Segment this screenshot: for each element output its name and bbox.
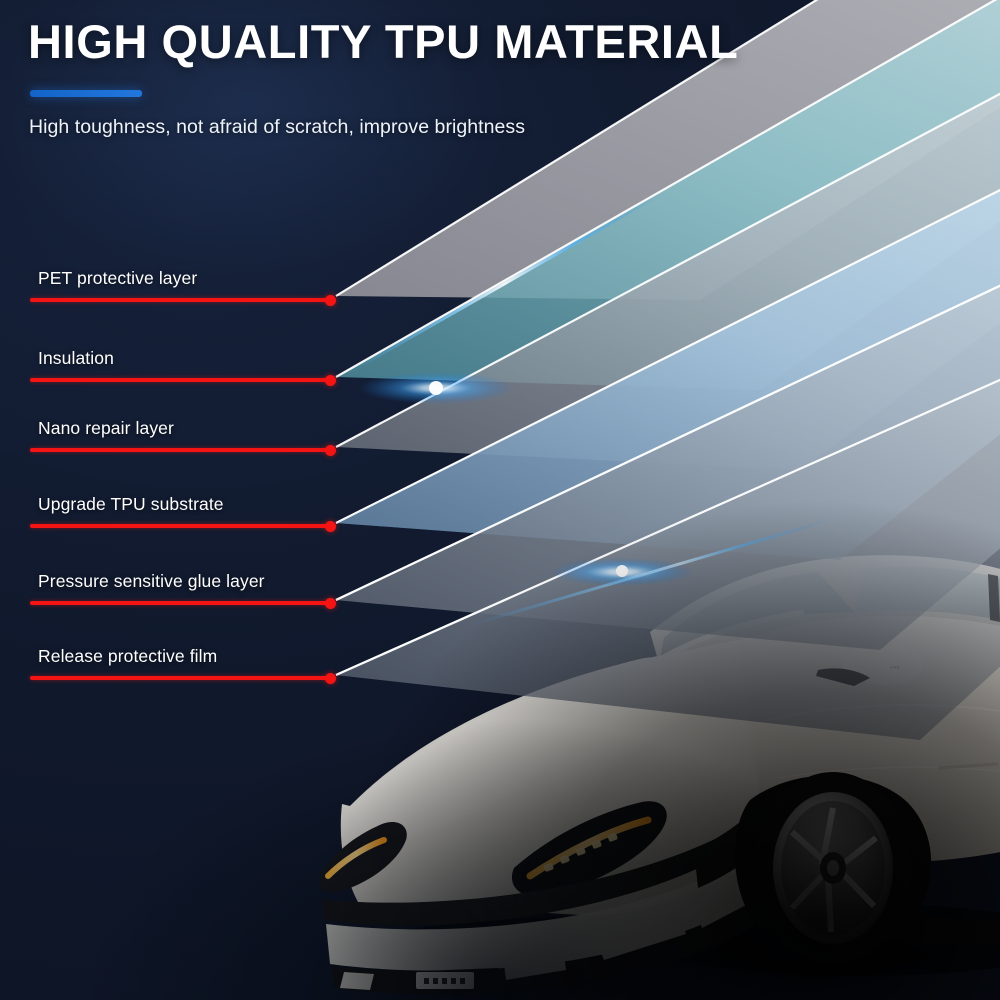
leader-dot: [325, 445, 336, 456]
leader-dot: [325, 673, 336, 684]
leader-line: [30, 378, 330, 382]
page-subtitle: High toughness, not afraid of scratch, i…: [29, 116, 848, 139]
layer-label: Upgrade TPU substrate: [38, 494, 224, 515]
layer-label: Insulation: [38, 348, 114, 369]
leader-dot: [325, 598, 336, 609]
leader-dot: [325, 521, 336, 532]
page-title: HIGH QUALITY TPU MATERIAL: [28, 18, 848, 67]
infographic-canvas: ◦◦◦: [0, 0, 1000, 1000]
layer-label: Nano repair layer: [38, 418, 174, 439]
leader-line: [30, 601, 330, 605]
leader-dot: [325, 375, 336, 386]
leader-line: [30, 524, 330, 528]
header: HIGH QUALITY TPU MATERIAL High toughness…: [28, 18, 848, 139]
layer-label: PET protective layer: [38, 268, 197, 289]
leader-line: [30, 298, 330, 302]
leader-line: [30, 676, 330, 680]
accent-rule: [30, 90, 142, 97]
layer-label: Pressure sensitive glue layer: [38, 571, 265, 592]
leader-line: [30, 448, 330, 452]
leader-dot: [325, 295, 336, 306]
layer-label: Release protective film: [38, 646, 217, 667]
